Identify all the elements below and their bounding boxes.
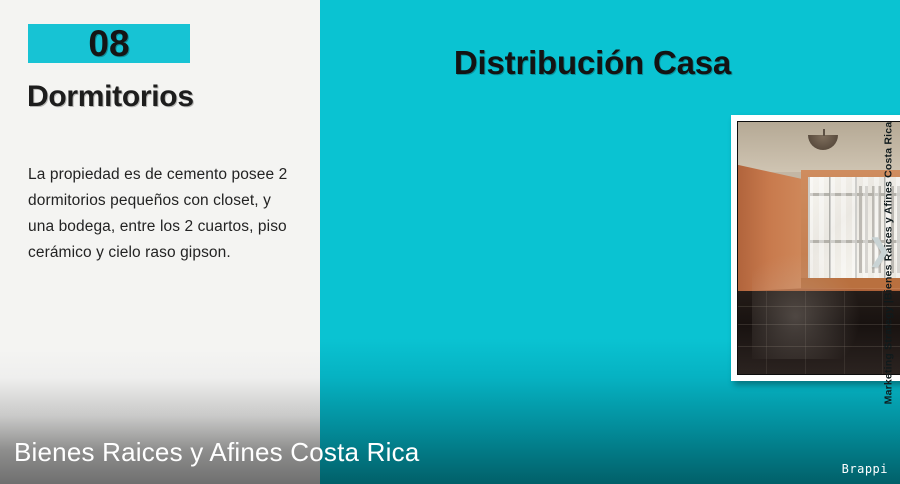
left-content-panel: 08 Dormitorios La propiedad es de cement… — [0, 0, 320, 484]
presentation-slide: 08 Dormitorios La propiedad es de cement… — [0, 0, 900, 484]
slide-main-title: Distribución Casa — [320, 44, 865, 82]
slide-number-text: 08 — [88, 25, 129, 62]
section-title: Dormitorios — [27, 80, 194, 114]
watermark-label: Brappi — [842, 462, 888, 476]
right-teal-panel: Distribución Casa — [320, 0, 900, 484]
chevron-right-icon: ❯ — [867, 236, 892, 266]
section-body-text: La propiedad es de cemento posee 2 dormi… — [28, 162, 288, 266]
footer-company-name: Bienes Raices y Afines Costa Rica — [14, 437, 419, 468]
slide-number-badge: 08 — [28, 24, 190, 63]
room-floor-reflection — [752, 253, 861, 359]
